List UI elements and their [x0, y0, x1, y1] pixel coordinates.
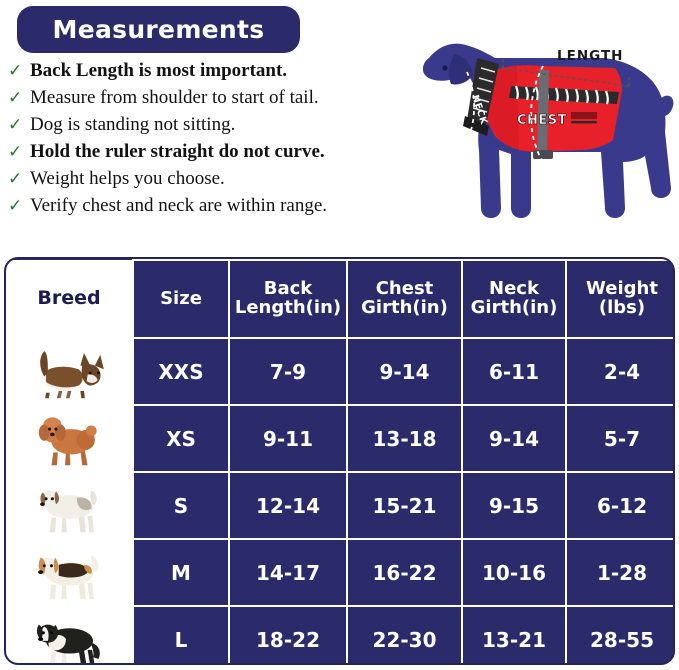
header-line-2: Girth(in)	[471, 297, 558, 318]
brand-label-icon	[571, 112, 597, 123]
size-cell: L	[133, 606, 229, 665]
back-length-cell: 7-9	[229, 338, 347, 405]
check-icon: ✓	[8, 171, 30, 188]
chest-label: CHEST	[517, 113, 567, 128]
neck-girth-cell: 10-16	[462, 539, 566, 606]
back-length-cell: 18-22	[229, 606, 347, 665]
table-row: XXS 7-9 9-14 6-11 2-4	[6, 338, 675, 405]
neck-girth-cell: 9-14	[462, 405, 566, 472]
size-cell: XXS	[133, 338, 229, 405]
jack-russell-terrier-dog-icon	[28, 478, 109, 534]
dog-size-chart-table: Breed Size Back Length(in) Chest Girth(i…	[4, 257, 675, 665]
chest-girth-cell: 15-21	[347, 472, 462, 539]
weight-cell: 1-28	[566, 539, 675, 606]
list-item-label: Verify chest and neck are within range.	[30, 195, 327, 217]
chihuahua-dog-icon	[28, 344, 109, 400]
neck-girth-cell: 6-11	[462, 338, 566, 405]
header-line-1: Weight	[586, 278, 658, 299]
breed-cell	[6, 606, 133, 665]
column-header-weight: Weight (lbs)	[566, 260, 675, 338]
column-header-back-length: Back Length(in)	[229, 260, 347, 338]
list-item: ✓ Hold the ruler straight do not curve.	[8, 141, 423, 168]
list-item-label: Back Length is most important.	[30, 60, 287, 82]
list-item: ✓ Measure from shoulder to start of tail…	[8, 87, 423, 114]
column-header-chest-girth: Chest Girth(in)	[347, 260, 462, 338]
weight-cell: 6-12	[566, 472, 675, 539]
table-header-row: Breed Size Back Length(in) Chest Girth(i…	[6, 260, 675, 338]
list-item-label: Dog is standing not sitting.	[30, 114, 235, 136]
check-icon: ✓	[8, 63, 30, 80]
breed-cell	[6, 472, 133, 539]
column-header-breed: Breed	[6, 260, 133, 338]
check-icon: ✓	[8, 144, 30, 161]
size-cell: M	[133, 539, 229, 606]
header-line-1: Neck	[489, 278, 539, 299]
back-length-cell: 9-11	[229, 405, 347, 472]
header-line-2: Length(in)	[235, 297, 341, 318]
chest-girth-cell: 22-30	[347, 606, 462, 665]
size-cell: XS	[133, 405, 229, 472]
table-row: L 18-22 22-30 13-21 28-55	[6, 606, 675, 665]
weight-cell: 5-7	[566, 405, 675, 472]
list-item: ✓ Weight helps you choose.	[8, 168, 423, 195]
header-line-1: Chest	[376, 278, 434, 299]
breed-cell	[6, 338, 133, 405]
chest-girth-cell: 13-18	[347, 405, 462, 472]
header-line-2: Girth(in)	[361, 297, 448, 318]
table-row: XS 9-11 13-18 9-14 5-7	[6, 405, 675, 472]
list-item-label: Measure from shoulder to start of tail.	[30, 87, 319, 109]
measurements-title-banner: Measurements	[17, 6, 300, 53]
list-item-label: Hold the ruler straight do not curve.	[30, 141, 325, 163]
beagle-dog-icon	[28, 545, 109, 601]
breed-cell	[6, 405, 133, 472]
weight-cell: 28-55	[566, 606, 675, 665]
list-item: ✓ Dog is standing not sitting.	[8, 114, 423, 141]
list-item-label: Weight helps you choose.	[30, 168, 225, 190]
size-cell: S	[133, 472, 229, 539]
poodle-dog-icon	[28, 411, 109, 467]
column-header-size: Size	[133, 260, 229, 338]
chest-girth-cell: 9-14	[347, 338, 462, 405]
neck-girth-cell: 13-21	[462, 606, 566, 665]
list-item: ✓ Verify chest and neck are within range…	[8, 195, 423, 222]
neck-girth-cell: 9-15	[462, 472, 566, 539]
weight-cell: 2-4	[566, 338, 675, 405]
check-icon: ✓	[8, 198, 30, 215]
border-collie-dog-icon	[28, 612, 109, 666]
table-row: S 12-14 15-21 9-15 6-12	[6, 472, 675, 539]
dog-vest-diagram: NECK LENGTH CHEST	[415, 12, 677, 247]
check-icon: ✓	[8, 90, 30, 107]
back-length-cell: 12-14	[229, 472, 347, 539]
column-header-neck-girth: Neck Girth(in)	[462, 260, 566, 338]
chest-girth-cell: 16-22	[347, 539, 462, 606]
breed-cell	[6, 539, 133, 606]
measurement-tips-list: ✓ Back Length is most important. ✓ Measu…	[8, 60, 423, 222]
header-line-1: Back	[264, 278, 313, 299]
list-item: ✓ Back Length is most important.	[8, 60, 423, 87]
back-length-cell: 14-17	[229, 539, 347, 606]
length-label: LENGTH	[557, 48, 623, 64]
table-row: M 14-17 16-22 10-16 1-28	[6, 539, 675, 606]
check-icon: ✓	[8, 117, 30, 134]
page-title: Measurements	[53, 15, 265, 44]
header-line-2: (lbs)	[599, 297, 645, 318]
